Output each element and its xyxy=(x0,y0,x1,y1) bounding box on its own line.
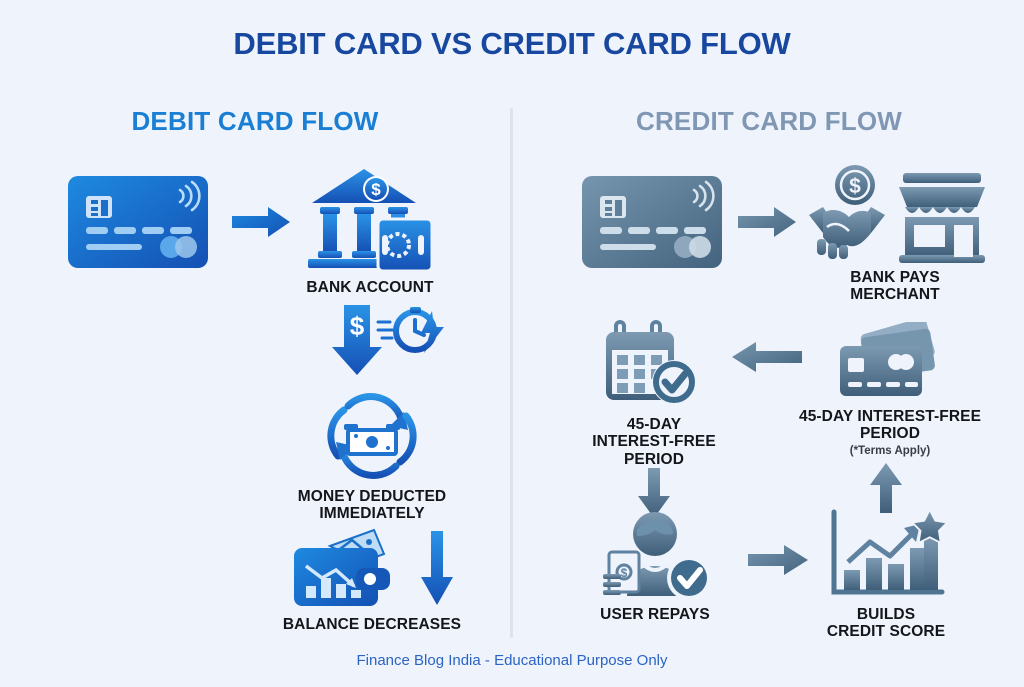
bank-pays-merchant-label: BANK PAYS MERCHANT xyxy=(800,269,990,304)
user-money-check-icon: $ xyxy=(580,508,730,600)
calendar-check-icon xyxy=(576,320,732,410)
page-title: DEBIT CARD VS CREDIT CARD FLOW xyxy=(0,26,1024,62)
stacked-cards-icon xyxy=(776,322,1004,402)
infographic-canvas: DEBIT CARD VS CREDIT CARD FLOW DEBIT CAR… xyxy=(0,0,1024,687)
credit-card-icon xyxy=(582,176,722,268)
builds-credit-score-node: BUILDS CREDIT SCORE xyxy=(806,508,966,641)
money-deducted-label: MONEY DEDUCTED IMMEDIATELY xyxy=(282,488,462,523)
balance-decreases-label: BALANCE DECREASES xyxy=(264,616,480,633)
credit-card-node xyxy=(582,176,722,268)
growth-chart-star-icon xyxy=(806,508,966,600)
debit-card-icon xyxy=(68,176,208,268)
balance-decreases-node: BALANCE DECREASES xyxy=(264,528,480,633)
arrow-down-dollar-icon: $ xyxy=(320,305,450,377)
terms-apply-note: (*Terms Apply) xyxy=(776,445,1004,457)
column-heading-credit: CREDIT CARD FLOW xyxy=(514,106,1024,137)
column-heading-debit: DEBIT CARD FLOW xyxy=(0,106,510,137)
wallet-declining-chart-icon xyxy=(290,528,394,610)
interest-free-period-left-node: 45-DAY INTEREST-FREE PERIOD xyxy=(576,320,732,468)
svg-text:$: $ xyxy=(350,311,365,341)
svg-text:$: $ xyxy=(849,175,861,198)
stopwatch-lightning-icon xyxy=(378,307,444,353)
svg-text:$: $ xyxy=(371,180,381,199)
arrow-right-icon xyxy=(746,543,812,577)
builds-credit-score-label: BUILDS CREDIT SCORE xyxy=(806,606,966,641)
arrow-right-icon xyxy=(738,205,798,239)
interest-free-period-left-label: 45-DAY INTEREST-FREE PERIOD xyxy=(576,416,732,468)
debit-arrow-deduct-node: $ xyxy=(320,305,450,377)
debit-arrow-card-to-bank xyxy=(232,205,292,239)
bank-account-node: $ BANK ACCOUNT xyxy=(298,163,442,296)
bank-account-label: BANK ACCOUNT xyxy=(298,279,442,296)
bank-building-icon: $ xyxy=(298,163,442,273)
handshake-store-icon: $ xyxy=(800,163,990,263)
bank-pays-merchant-node: $ BANK PAYS MERCHANT xyxy=(800,163,990,304)
credit-arrow-cards-to-calendar xyxy=(730,340,802,374)
user-repays-node: $ USER REPAYS xyxy=(580,508,730,623)
svg-text:$: $ xyxy=(621,566,628,580)
arrow-right-icon xyxy=(232,205,292,239)
interest-free-period-right-node: 45-DAY INTEREST-FREE PERIOD (*Terms Appl… xyxy=(776,322,1004,457)
arrow-left-icon xyxy=(730,340,802,374)
money-transfer-icon xyxy=(282,390,462,482)
interest-free-period-right-label: 45-DAY INTEREST-FREE PERIOD xyxy=(776,408,1004,443)
user-repays-label: USER REPAYS xyxy=(580,606,730,623)
credit-arrow-score-up xyxy=(866,463,906,513)
credit-arrow-card-to-merchant xyxy=(738,205,798,239)
arrow-down-icon xyxy=(420,531,454,607)
arrow-up-icon xyxy=(866,463,906,513)
credit-arrow-user-to-score xyxy=(746,543,812,577)
money-deducted-node: MONEY DEDUCTED IMMEDIATELY xyxy=(282,390,462,523)
column-divider xyxy=(510,108,513,638)
footer-note: Finance Blog India - Educational Purpose… xyxy=(0,652,1024,669)
debit-card-node xyxy=(68,176,208,268)
